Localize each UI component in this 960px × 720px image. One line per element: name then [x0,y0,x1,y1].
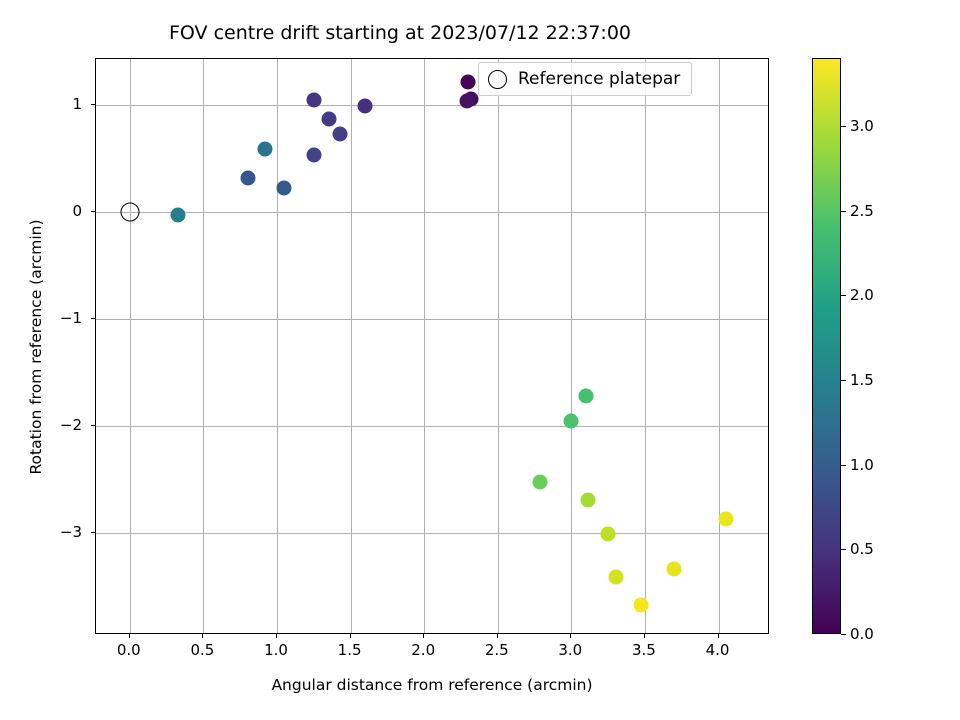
x-axis-label: Angular distance from reference (arcmin) [95,676,769,694]
reference-platepar-marker [120,203,139,222]
colorbar-tick-mark [841,380,846,381]
scatter-point [461,74,476,89]
scatter-point [321,112,336,127]
x-tick-mark [129,634,130,638]
scatter-point [718,512,733,527]
colorbar-tick-label: 1.0 [850,456,874,474]
x-tick-label: 2.5 [485,641,509,659]
y-tick-mark [91,532,95,533]
legend[interactable]: Reference platepar [478,62,692,96]
figure-canvas: FOV centre drift starting at 2023/07/12 … [0,0,960,720]
colorbar-tick-mark [841,465,846,466]
colorbar-gradient [812,58,841,634]
scatter-point [564,413,579,428]
scatter-point [277,180,292,195]
x-tick-mark [350,634,351,638]
colorbar-tick-mark [841,549,846,550]
scatter-point [459,93,474,108]
scatter-point [601,527,616,542]
scatter-point [306,92,321,107]
chart-title: FOV centre drift starting at 2023/07/12 … [0,22,800,44]
scatter-point [358,99,373,114]
x-tick-mark [276,634,277,638]
scatter-point [633,598,648,613]
y-tick-mark [91,425,95,426]
scatter-point [608,570,623,585]
colorbar-tick-mark [841,126,846,127]
colorbar-tick-mark [841,634,846,635]
scatter-point [580,493,595,508]
y-tick-mark [91,104,95,105]
scatter-point [171,208,186,223]
colorbar-tick-label: 0.0 [850,625,874,643]
scatter-point [533,474,548,489]
scatter-point [579,389,594,404]
x-tick-mark [497,634,498,638]
scatter-point [333,126,348,141]
x-tick-label: 2.0 [411,641,435,659]
scatter-point [240,170,255,185]
y-tick-mark [91,211,95,212]
x-tick-label: 0.5 [190,641,214,659]
scatter-point [258,141,273,156]
colorbar-tick-label: 0.5 [850,540,874,558]
x-tick-label: 4.0 [706,641,730,659]
x-tick-label: 3.5 [632,641,656,659]
y-axis-label: Rotation from reference (arcmin) [27,37,45,657]
x-tick-label: 3.0 [558,641,582,659]
y-tick-mark [91,318,95,319]
scatter-data-layer [96,59,768,633]
x-tick-mark [644,634,645,638]
colorbar: 0.00.51.01.52.02.53.0 [812,58,841,634]
colorbar-tick-label: 1.5 [850,371,874,389]
scatter-point [667,561,682,576]
x-tick-mark [202,634,203,638]
x-tick-label: 1.5 [338,641,362,659]
x-tick-label: 0.0 [117,641,141,659]
scatter-point [306,148,321,163]
plot-axes [95,58,769,634]
colorbar-tick-mark [841,295,846,296]
colorbar-tick-mark [841,211,846,212]
colorbar-tick-label: 2.5 [850,202,874,220]
x-tick-mark [570,634,571,638]
colorbar-tick-label: 2.0 [850,286,874,304]
open-circle-icon [488,70,507,89]
colorbar-tick-label: 3.0 [850,117,874,135]
x-tick-label: 1.0 [264,641,288,659]
x-tick-mark [718,634,719,638]
legend-label-reference-platepar: Reference platepar [518,69,680,89]
x-tick-mark [423,634,424,638]
